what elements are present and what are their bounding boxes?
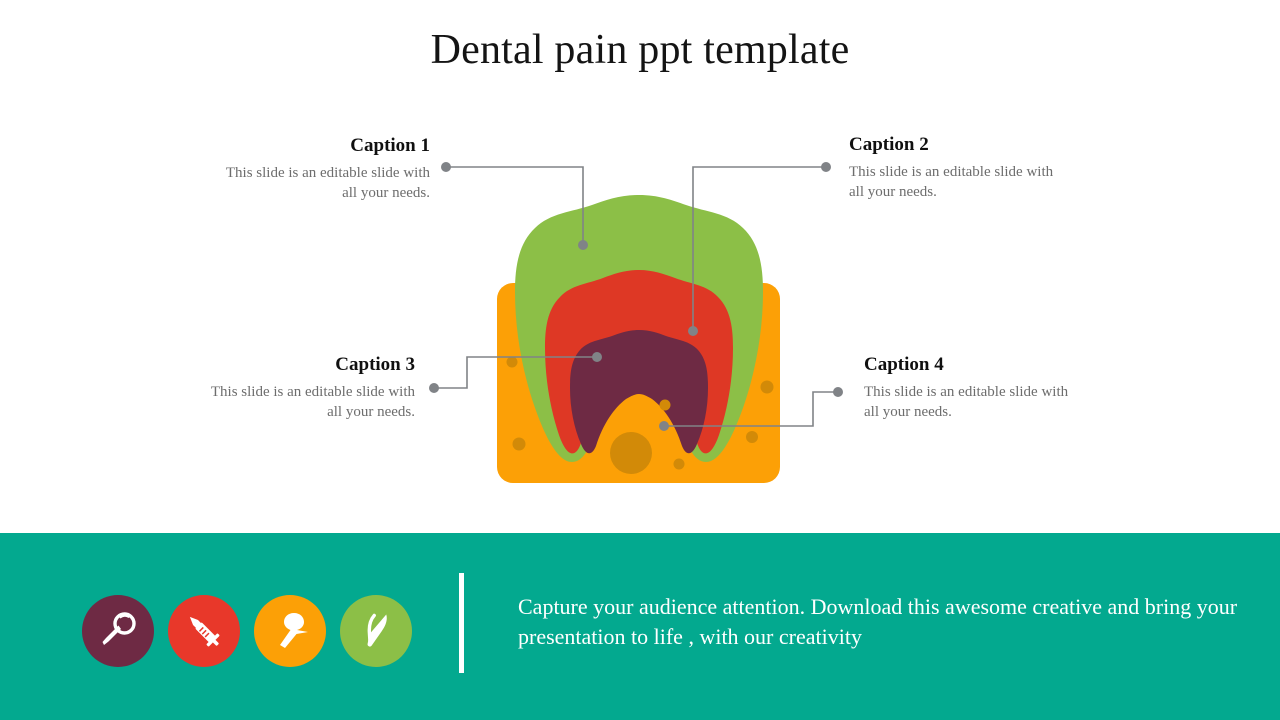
- gum-dot: [660, 400, 671, 411]
- gum-dot: [746, 431, 758, 443]
- dental-mirror-icon-circle[interactable]: [82, 595, 154, 667]
- syringe-icon-circle[interactable]: [168, 595, 240, 667]
- connector-dot-caption-3: [429, 383, 439, 393]
- connector-dot-caption-4: [833, 387, 843, 397]
- connector-dot-caption-2: [821, 162, 831, 172]
- dental-forceps-icon-circle[interactable]: [340, 595, 412, 667]
- caption-body-2: This slide is an editable slide with all…: [849, 163, 1064, 203]
- caption-block-4[interactable]: Caption 4 This slide is an editable slid…: [864, 354, 1079, 423]
- gum-dot: [513, 438, 526, 451]
- caption-title-3: Caption 3: [200, 354, 415, 376]
- caption-body-1: This slide is an editable slide with all…: [215, 164, 430, 204]
- caption-body-4: This slide is an editable slide with all…: [864, 383, 1079, 423]
- caption-title-1: Caption 1: [215, 135, 430, 157]
- syringe-icon: [181, 608, 227, 654]
- connector-dot-caption-1: [441, 162, 451, 172]
- dental-forceps-icon: [353, 608, 399, 654]
- dental-tool-icon-row: [82, 595, 412, 667]
- dental-drill-icon-circle[interactable]: [254, 595, 326, 667]
- caption-block-1[interactable]: Caption 1 This slide is an editable slid…: [215, 135, 430, 204]
- gum-dot: [761, 381, 774, 394]
- tooth-diagram: [0, 0, 1280, 533]
- gum-dot: [674, 459, 685, 470]
- caption-body-3: This slide is an editable slide with all…: [200, 383, 415, 423]
- caption-block-3[interactable]: Caption 3 This slide is an editable slid…: [200, 354, 415, 423]
- gum-dot: [610, 432, 652, 474]
- dental-drill-icon: [267, 608, 313, 654]
- connector-dot-target-2: [688, 326, 698, 336]
- banner-divider: [459, 573, 464, 673]
- caption-title-2: Caption 2: [849, 134, 1064, 156]
- gum-dot: [507, 357, 518, 368]
- connector-dot-target-3: [592, 352, 602, 362]
- connector-dot-target-4: [659, 421, 669, 431]
- caption-block-2[interactable]: Caption 2 This slide is an editable slid…: [849, 134, 1064, 203]
- banner-description: Capture your audience attention. Downloa…: [518, 592, 1248, 653]
- dental-mirror-icon: [95, 608, 141, 654]
- caption-title-4: Caption 4: [864, 354, 1079, 376]
- connector-dot-target-1: [578, 240, 588, 250]
